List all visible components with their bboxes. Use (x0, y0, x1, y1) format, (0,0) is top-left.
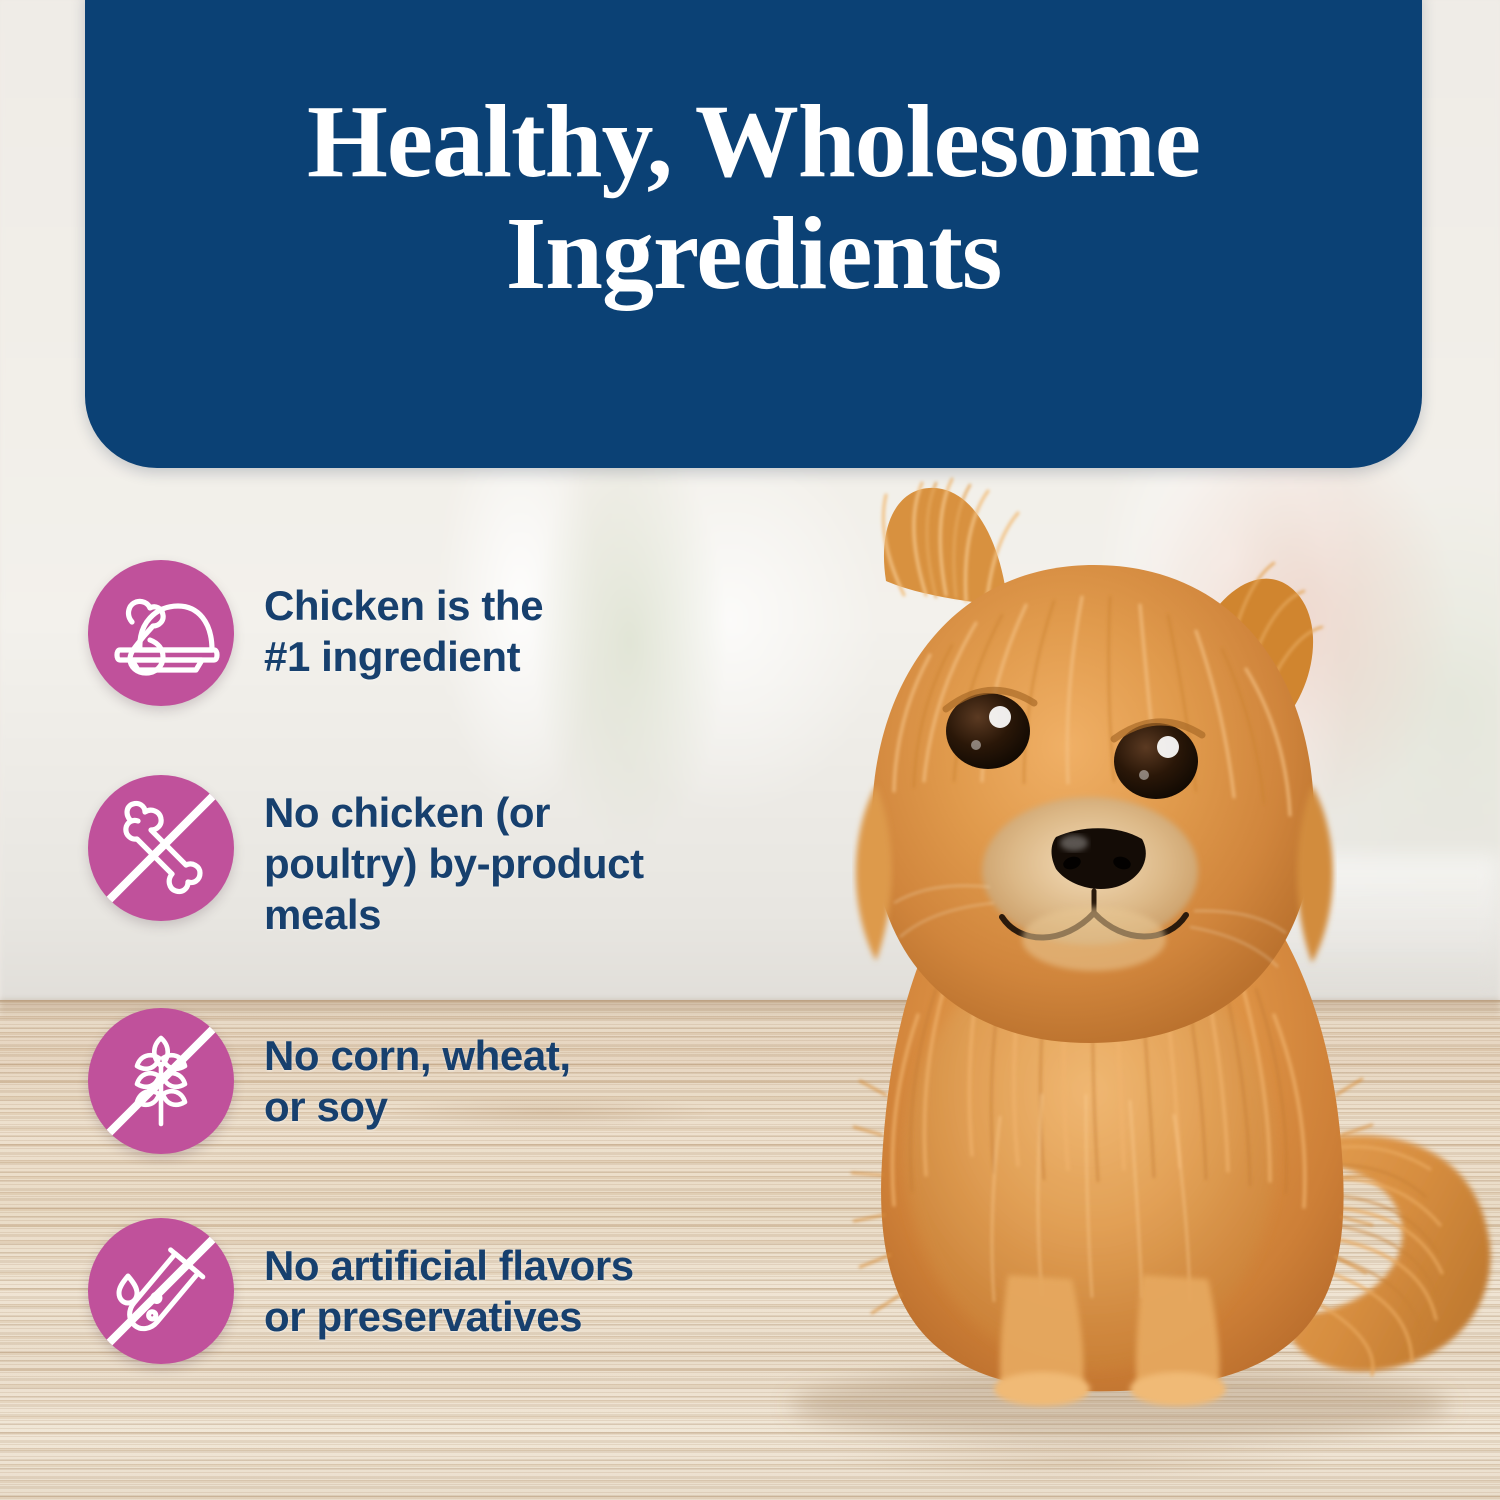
feature-text: No chicken (or poultry) by-product meals (264, 775, 644, 941)
no-bone-icon (88, 775, 234, 921)
header-panel: Healthy, Wholesome Ingredients (85, 0, 1422, 468)
feature-text: No artificial flavors or preservatives (264, 1218, 634, 1342)
pomeranian-dog-photo (690, 455, 1500, 1455)
feature-text: Chicken is the #1 ingredient (264, 560, 543, 682)
roast-chicken-platter-icon (88, 560, 234, 706)
page-title: Healthy, Wholesome Ingredients (85, 86, 1422, 311)
feature-item-no-byproduct: No chicken (or poultry) by-product meals (88, 775, 644, 941)
product-feature-graphic: Healthy, Wholesome Ingredients (0, 0, 1500, 1500)
feature-item-no-artificial: No artificial flavors or preservatives (88, 1218, 634, 1364)
feature-item-chicken-first: Chicken is the #1 ingredient (88, 560, 543, 706)
no-test-tube-icon (88, 1218, 234, 1364)
feature-item-no-grains: No corn, wheat, or soy (88, 1008, 571, 1154)
feature-text: No corn, wheat, or soy (264, 1008, 571, 1132)
no-wheat-icon (88, 1008, 234, 1154)
